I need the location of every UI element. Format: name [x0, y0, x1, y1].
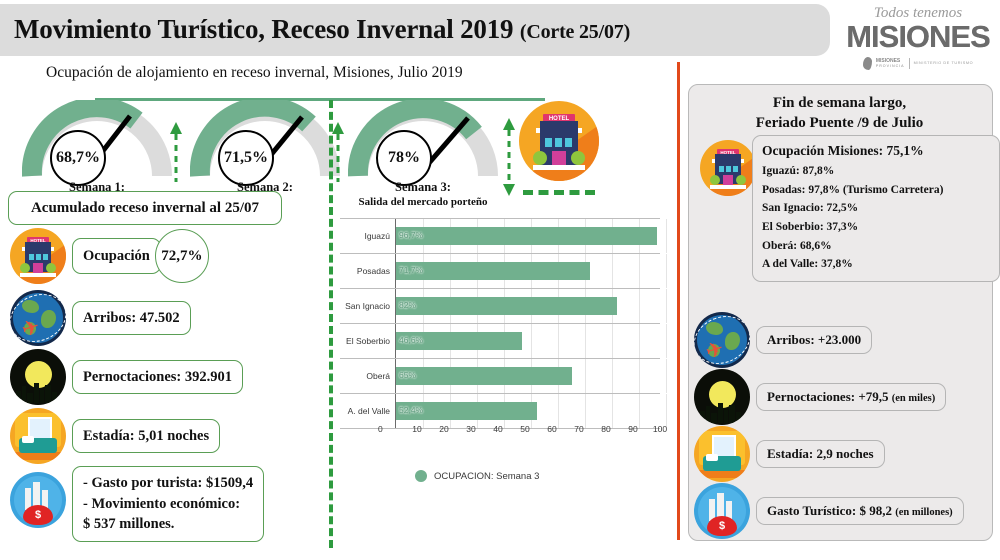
chart-gridline: [585, 359, 586, 393]
right-occupancy-line: Iguazú: 87,8%: [762, 162, 990, 181]
chart-bar: [396, 367, 572, 385]
logo-sub-name: MISIONES PROVINCIA: [876, 58, 905, 68]
acumulado-title-box: Acumulado receso invernal al 25/07: [8, 191, 282, 225]
money-bag-shape: $: [707, 516, 737, 536]
chart-plot-cell: 82%: [395, 289, 660, 323]
hotel-icon-large: HOTEL: [519, 101, 599, 181]
dollar-sign-icon: $: [35, 509, 41, 521]
right-pernoctaciones-label: Pernoctaciones: +79,5: [767, 389, 892, 404]
chart-bar-value: 82%: [399, 300, 416, 310]
chart-bar-value: 46,6%: [399, 335, 423, 345]
right-title-line-2: Feriado Puente /9 de Julio: [756, 115, 924, 131]
ocupacion-label: Ocupación: [83, 248, 150, 265]
vertical-dashed-separator: [329, 100, 333, 548]
logo-wordmark: MISIONES: [838, 21, 998, 54]
money-bag-icon: $: [10, 472, 66, 528]
pernoctaciones-label: Pernoctaciones: 392.901: [83, 369, 232, 386]
gasto-box: - Gasto por turista: $1509,4 - Movimient…: [72, 466, 264, 542]
chart-gridline: [639, 324, 640, 358]
hotel-bush: [571, 151, 585, 165]
acumulado-title: Acumulado receso invernal al 25/07: [31, 200, 259, 217]
logo-ministry: MINISTERIO DE TURISMO: [914, 61, 974, 65]
chart-gridline: [531, 324, 532, 358]
logo-sub-tag: PROVINCIA: [876, 64, 905, 68]
chart-rows: Iguazú96,7%Posadas71,7%San Ignacio82%El …: [340, 218, 660, 429]
gauge-value-semana-1: 68,7%: [50, 130, 106, 186]
chart-bar: [396, 297, 617, 315]
money-bag-icon: $: [694, 483, 750, 539]
right-row-arribos: ✈ Arribos: +23.000: [694, 312, 872, 368]
gauge-semana-2: 71,5% Semana 2:: [190, 100, 340, 178]
money-bag-shape: $: [23, 505, 53, 525]
legend-color-dot: [415, 470, 427, 482]
chart-category-label: Iguazú: [340, 231, 395, 241]
chart-gridline: [558, 394, 559, 428]
right-estadia-box: Estadía: 2,9 noches: [756, 440, 885, 468]
chart-gridline: [666, 324, 667, 358]
chart-gridline: [612, 254, 613, 288]
page-title-main: Movimiento Turístico, Receso Invernal 20…: [14, 14, 513, 44]
hotel-icon-right: HOTEL: [700, 140, 756, 196]
bed-pillow: [706, 454, 718, 461]
gauge-sublabel-semana-3: Salida del mercado porteño: [333, 196, 513, 208]
night-city-icon: [694, 369, 750, 425]
chart-gridline: [612, 394, 613, 428]
hotel-window: [29, 254, 34, 260]
chart-gridline: [666, 359, 667, 393]
hotel-window: [565, 138, 572, 147]
right-pernoctaciones-note: (en miles): [892, 393, 935, 404]
chart-bar-value: 52,4%: [399, 405, 423, 415]
hotel-window: [733, 166, 738, 172]
right-occupancy-line: Posadas: 97,8% (Turismo Carretera): [762, 181, 990, 200]
globe-plane-icon: ✈: [694, 312, 750, 368]
gauge-label-semana-3: Semana 3:: [348, 180, 498, 195]
axis-tick-label: 90: [628, 424, 637, 434]
left-row-ocupacion: HOTEL Ocupación 72,7%: [10, 228, 209, 284]
right-occupancy-line: El Soberbio: 37,3%: [762, 218, 990, 237]
chart-gridline: [612, 324, 613, 358]
right-row-pernoctaciones: Pernoctaciones: +79,5 (en miles): [694, 369, 946, 425]
misiones-logo: Todos tenemos MISIONES MISIONES PROVINCI…: [838, 2, 998, 80]
chart-x-axis: 102030405060708090100: [390, 424, 660, 440]
hotel-window: [545, 138, 552, 147]
hotel-base: [533, 165, 585, 170]
chart-category-label: San Ignacio: [340, 301, 395, 311]
chart-gridline: [666, 289, 667, 323]
chart-category-label: A. del Valle: [340, 406, 395, 416]
gasto-line-2: - Movimiento económico:: [83, 494, 240, 515]
ocupacion-value: 72,7%: [161, 248, 202, 265]
axis-tick-label: 50: [520, 424, 529, 434]
dollar-sign-icon: $: [719, 520, 725, 532]
night-city-icon: [10, 349, 66, 405]
left-row-pernoctaciones: Pernoctaciones: 392.901: [10, 349, 243, 405]
right-occupancy-line: Oberá: 68,6%: [762, 237, 990, 256]
trend-up-arrow-1: [168, 122, 184, 182]
chart-plot-cell: 65%: [395, 359, 660, 393]
chart-bar-value: 71,7%: [399, 265, 423, 275]
logo-sub-lockup: MISIONES PROVINCIA MINISTERIO DE TURISMO: [838, 57, 998, 70]
right-title-line-1: Fin de semana largo,: [773, 95, 906, 111]
hotel-bush: [736, 175, 746, 185]
hotel-base: [20, 273, 56, 277]
hotel-window: [43, 254, 48, 260]
chart-gridline: [639, 289, 640, 323]
chart-row: Oberá65%: [340, 359, 660, 394]
gauge-value-semana-3: 78%: [376, 130, 432, 186]
chart-gridline: [585, 394, 586, 428]
right-panel-title: Fin de semana largo, Feriado Puente /9 d…: [688, 94, 991, 133]
left-row-gasto: $ - Gasto por turista: $1509,4 - Movimie…: [10, 466, 264, 542]
gauge-semana-1: 68,7% Semana 1:: [22, 100, 172, 178]
right-gasto-label: Gasto Turístico: $ 98,2: [767, 503, 895, 518]
hotel-window: [719, 166, 724, 172]
chart-category-label: Posadas: [340, 266, 395, 276]
hotel-bush: [46, 263, 56, 273]
right-arribos-box: Arribos: +23.000: [756, 326, 872, 354]
axis-tick-label: 80: [601, 424, 610, 434]
gauge-value-semana-2: 71,5%: [218, 130, 274, 186]
left-row-estadia: Estadía: 5,01 noches: [10, 408, 220, 464]
right-occupancy-main: Ocupación Misiones: 75,1%: [762, 143, 990, 159]
axis-tick-label: 70: [574, 424, 583, 434]
occupancy-bar-chart: Iguazú96,7%Posadas71,7%San Ignacio82%El …: [340, 218, 660, 440]
chart-bar: [396, 262, 590, 280]
page-title-corte: (Corte 25/07): [520, 21, 630, 43]
chart-plot-cell: 52,4%: [395, 394, 660, 428]
chart-category-label: Oberá: [340, 371, 395, 381]
chart-subtitle: Ocupación de alojamiento en receso inver…: [46, 64, 463, 82]
chart-gridline: [612, 359, 613, 393]
chart-gridline: [666, 219, 667, 253]
right-estadia-label: Estadía: 2,9 noches: [767, 446, 874, 461]
bed-room-icon: [10, 408, 66, 464]
city-skyline: [16, 381, 60, 403]
chart-plot-cell: 71,7%: [395, 254, 660, 288]
bed-room-floor: [14, 452, 62, 460]
ocupacion-label-box: Ocupación: [72, 238, 161, 274]
gasto-line-3: $ 537 millones.: [83, 514, 174, 535]
axis-tick-zero: 0: [378, 424, 383, 434]
left-row-arribos: ✈ Arribos: 47.502: [10, 290, 191, 346]
chart-gridline: [558, 324, 559, 358]
chart-row: Posadas71,7%: [340, 254, 660, 289]
gasto-line-1: - Gasto por turista: $1509,4: [83, 473, 253, 494]
chart-gridline: [639, 394, 640, 428]
axis-tick-label: 100: [653, 424, 667, 434]
chart-row: El Soberbio46,6%: [340, 324, 660, 359]
estadia-box: Estadía: 5,01 noches: [72, 419, 220, 453]
right-row-estadia: Estadía: 2,9 noches: [694, 426, 885, 482]
hotel-window: [555, 138, 562, 147]
chart-gridline: [666, 254, 667, 288]
chart-row: San Ignacio82%: [340, 289, 660, 324]
trend-updown-arrow-3: [501, 118, 517, 196]
chart-row: Iguazú96,7%: [340, 218, 660, 254]
bed-room-icon: [694, 426, 750, 482]
right-row-gasto: $ Gasto Turístico: $ 98,2 (en millones): [694, 483, 964, 539]
page-title: Movimiento Turístico, Receso Invernal 20…: [14, 14, 814, 45]
chart-gridline: [639, 359, 640, 393]
chart-gridline: [666, 394, 667, 428]
chart-bar-value: 96,7%: [399, 230, 423, 240]
chart-plot-cell: 96,7%: [395, 219, 660, 253]
axis-tick-label: 40: [493, 424, 502, 434]
chart-category-label: El Soberbio: [340, 336, 395, 346]
province-shape-icon: [863, 57, 872, 70]
orange-vertical-divider: [677, 62, 680, 540]
chart-legend: OCUPACION: Semana 3: [415, 470, 539, 482]
logo-divider: [909, 58, 910, 69]
estadia-label: Estadía: 5,01 noches: [83, 428, 209, 445]
right-occupancy-line: A del Valle: 37,8%: [762, 255, 990, 274]
right-occupancy-line: San Ignacio: 72,5%: [762, 199, 990, 218]
hotel-window: [726, 166, 731, 172]
axis-tick-label: 60: [547, 424, 556, 434]
arribos-box: Arribos: 47.502: [72, 301, 191, 335]
chart-bar-value: 65%: [399, 370, 416, 380]
hotel-bush: [533, 151, 547, 165]
right-pernoctaciones-box: Pernoctaciones: +79,5 (en miles): [756, 383, 946, 411]
right-gasto-box: Gasto Turístico: $ 98,2 (en millones): [756, 497, 964, 525]
city-skyline: [700, 401, 744, 423]
chart-gridline: [639, 254, 640, 288]
axis-tick-label: 30: [466, 424, 475, 434]
hotel-window: [36, 254, 41, 260]
bed-room-floor: [698, 470, 746, 478]
hotel-base: [710, 185, 746, 189]
axis-tick-label: 20: [439, 424, 448, 434]
chart-plot-cell: 46,6%: [395, 324, 660, 358]
hotel-bush: [710, 175, 720, 185]
hotel-underline-dashes: [523, 190, 595, 195]
hotel-icon: HOTEL: [10, 228, 66, 284]
globe-plane-icon: ✈: [10, 290, 66, 346]
hotel-bush: [20, 263, 30, 273]
chart-gridline: [585, 324, 586, 358]
gauge-semana-3: 78% Semana 3: Salida del mercado porteño: [348, 100, 498, 178]
bed-pillow: [22, 436, 34, 443]
right-arribos-label: Arribos: +23.000: [767, 332, 861, 347]
axis-tick-label: 10: [412, 424, 421, 434]
right-occupancy-box: Ocupación Misiones: 75,1% Iguazú: 87,8% …: [752, 135, 1000, 282]
pernoctaciones-box: Pernoctaciones: 392.901: [72, 360, 243, 394]
arribos-label: Arribos: 47.502: [83, 310, 180, 327]
legend-label: OCUPACION: Semana 3: [434, 471, 539, 482]
right-gasto-note: (en millones): [895, 507, 952, 518]
ocupacion-value-circle: 72,7%: [155, 229, 209, 283]
chart-bar: [396, 227, 657, 245]
